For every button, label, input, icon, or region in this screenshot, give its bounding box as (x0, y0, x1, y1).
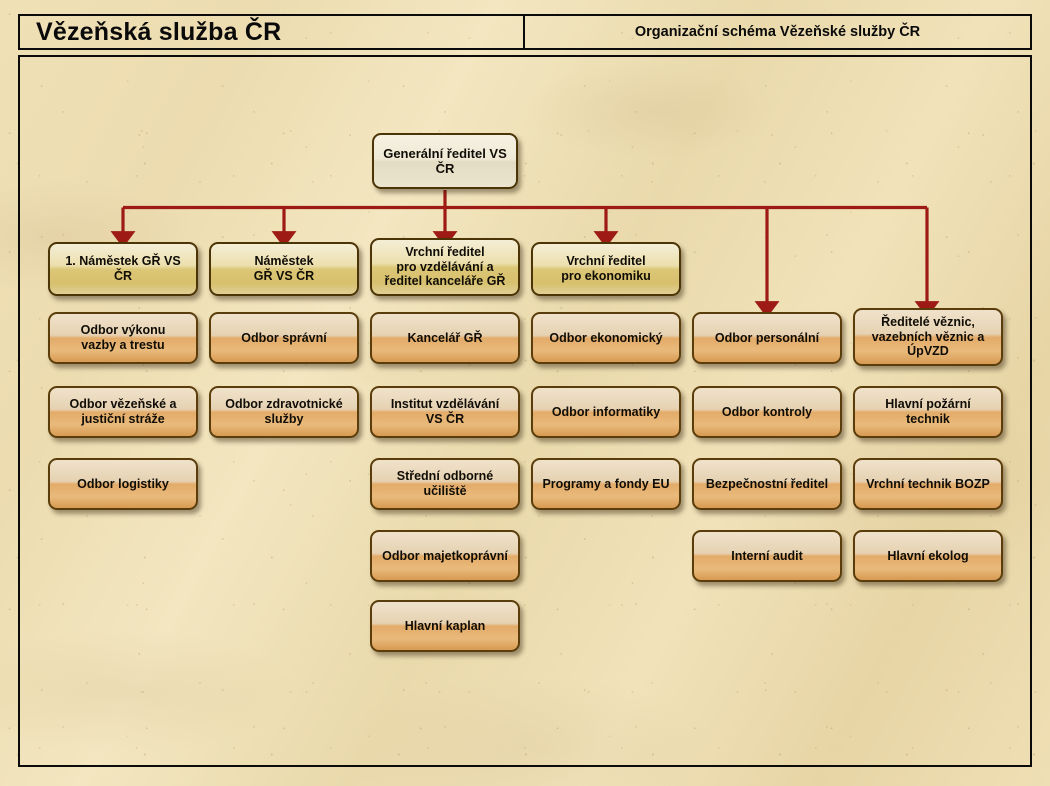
node-vrchni-reditel-vzdelavani[interactable]: Vrchní ředitel pro vzdělávání a ředitel … (370, 238, 520, 296)
node-label: Kancelář GŘ (407, 331, 482, 346)
header-bar: Vězeňská služba ČR Organizační schéma Vě… (18, 14, 1032, 50)
node-label: Institut vzdělávání VS ČR (391, 397, 499, 427)
node-label: Střední odborné učiliště (397, 469, 494, 499)
node-label: Hlavní ekolog (887, 549, 968, 564)
node-reditele-veznic[interactable]: Ředitelé věznic, vazebních věznic a ÚpVZ… (853, 308, 1003, 366)
node-bezpecnostni-reditel[interactable]: Bezpečnostní ředitel (692, 458, 842, 510)
node-label: Odbor informatiky (552, 405, 660, 420)
org-chart-page: Vězeňská služba ČR Organizační schéma Vě… (0, 0, 1050, 786)
node-odbor-spravni[interactable]: Odbor správní (209, 312, 359, 364)
node-odbor-majetkopravni[interactable]: Odbor majetkoprávní (370, 530, 520, 582)
node-label: Odbor vězeňské a justiční stráže (70, 397, 177, 427)
node-interni-audit[interactable]: Interní audit (692, 530, 842, 582)
header-title-cell: Vězeňská služba ČR (20, 16, 525, 48)
node-odbor-ekonomicky[interactable]: Odbor ekonomický (531, 312, 681, 364)
node-label: Odbor personální (715, 331, 819, 346)
node-label: Odbor zdravotnické služby (225, 397, 342, 427)
node-namestek-gr[interactable]: Náměstek GŘ VS ČR (209, 242, 359, 296)
node-label: Hlavní požární technik (862, 397, 994, 427)
page-title: Vězeňská služba ČR (36, 18, 281, 47)
node-vrchni-reditel-ekonomika[interactable]: Vrchní ředitel pro ekonomiku (531, 242, 681, 296)
node-label: 1. Náměstek GŘ VS ČR (57, 254, 189, 284)
node-odbor-vezenske-a-justicni-straze[interactable]: Odbor vězeňské a justiční stráže (48, 386, 198, 438)
node-label: Odbor výkonu vazby a trestu (81, 323, 166, 353)
header-subtitle-cell: Organizační schéma Vězeňské služby ČR (525, 16, 1030, 48)
node-label: Hlavní kaplan (405, 619, 486, 634)
node-hlavni-kaplan[interactable]: Hlavní kaplan (370, 600, 520, 652)
node-label: Náměstek GŘ VS ČR (254, 254, 314, 284)
node-institut-vzdelavani[interactable]: Institut vzdělávání VS ČR (370, 386, 520, 438)
node-1-namestek-gr[interactable]: 1. Náměstek GŘ VS ČR (48, 242, 198, 296)
node-odbor-personalni[interactable]: Odbor personální (692, 312, 842, 364)
node-label: Interní audit (731, 549, 803, 564)
node-label: Programy a fondy EU (542, 477, 669, 492)
node-generalni-reditel[interactable]: Generální ředitel VS ČR (372, 133, 518, 189)
node-label: Odbor logistiky (77, 477, 169, 492)
node-hlavni-ekolog[interactable]: Hlavní ekolog (853, 530, 1003, 582)
node-kancelar-gr[interactable]: Kancelář GŘ (370, 312, 520, 364)
node-label: Vrchní ředitel pro ekonomiku (561, 254, 651, 284)
node-odbor-zdravotnicke-sluzby[interactable]: Odbor zdravotnické služby (209, 386, 359, 438)
node-label: Vrchní ředitel pro vzdělávání a ředitel … (385, 245, 506, 289)
node-odbor-vykonu-vazby-a-trestu[interactable]: Odbor výkonu vazby a trestu (48, 312, 198, 364)
page-subtitle: Organizační schéma Vězeňské služby ČR (635, 24, 920, 40)
node-stredni-odborne-uciliste[interactable]: Střední odborné učiliště (370, 458, 520, 510)
node-label: Bezpečnostní ředitel (706, 477, 828, 492)
node-label: Odbor kontroly (722, 405, 812, 420)
node-hlavni-pozarni-technik[interactable]: Hlavní požární technik (853, 386, 1003, 438)
node-label: Vrchní technik BOZP (866, 477, 990, 492)
node-label: Odbor ekonomický (549, 331, 662, 346)
node-odbor-kontroly[interactable]: Odbor kontroly (692, 386, 842, 438)
node-odbor-logistiky[interactable]: Odbor logistiky (48, 458, 198, 510)
node-label: Ředitelé věznic, vazebních věznic a ÚpVZ… (872, 315, 985, 359)
node-programy-a-fondy-eu[interactable]: Programy a fondy EU (531, 458, 681, 510)
node-label: Odbor majetkoprávní (382, 549, 508, 564)
node-odbor-informatiky[interactable]: Odbor informatiky (531, 386, 681, 438)
node-vrchni-technik-bozp[interactable]: Vrchní technik BOZP (853, 458, 1003, 510)
node-label: Generální ředitel VS ČR (381, 146, 509, 177)
node-label: Odbor správní (241, 331, 326, 346)
